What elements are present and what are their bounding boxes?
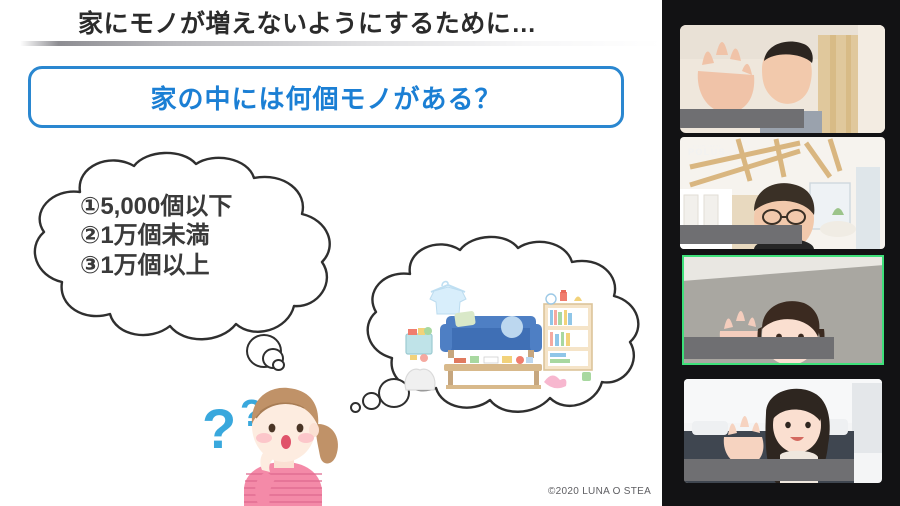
video-feed-4 [684,379,882,483]
participant-name-label-4 [684,459,854,481]
bookshelf-icon [544,290,592,370]
page-title: 家にモノが増えないようにするために… [78,4,537,40]
question-box-text: 家の中には何個モノがある？ [150,79,501,116]
video-feed-1 [680,25,885,133]
question-box: 家の中には何個モノがある？ [28,66,624,128]
cushion-icon [405,369,435,390]
title-divider [20,41,662,46]
video-tile-participant-2[interactable]: POLUS GROUP POLUS [662,133,900,253]
polus-watermark: POLUS GROUP POLUS [688,145,726,158]
polus-watermark-text: POLUS [688,147,726,157]
video-feed-3 [682,255,884,365]
green-item-icon [582,372,591,381]
copyright-notice: ©2020 LUNA O STEA [548,486,651,497]
participant-name-label-2 [680,225,802,244]
toy-icon [544,375,566,388]
video-feed-2: POLUS GROUP POLUS [680,137,885,249]
character-svg [200,378,365,506]
sofa-icon [440,311,542,358]
cluttered-room-illustration [398,272,613,397]
options-list: ①5,000個以下 ②1万個未満 ③1万個以上 [80,192,330,280]
option-item-2: ②1万個未満 [80,221,330,250]
hanging-shirt-icon [430,282,466,314]
tail-circle-small [272,359,285,371]
option-item-3: ③1万個以上 [80,251,330,280]
toy-box-icon [406,327,432,362]
presentation-slide: 家にモノが増えないようにするために… 家の中には何個モノがある？ ①5,000個… [0,0,662,506]
thinking-woman-illustration [200,378,365,506]
video-tile-participant-1[interactable] [662,0,900,133]
room-svg [398,272,613,397]
screen-share-view: 家にモノが増えないようにするために… 家の中には何個モノがある？ ①5,000個… [0,0,900,506]
coffee-table-icon [444,356,542,389]
participant-name-label-3 [682,337,834,359]
participant-name-label-1 [680,109,804,128]
video-tile-participant-3[interactable] [662,253,900,371]
participants-video-panel: POLUS GROUP POLUS [662,0,900,506]
option-item-1: ①5,000個以下 [80,192,330,221]
video-tile-participant-4[interactable] [662,371,900,506]
